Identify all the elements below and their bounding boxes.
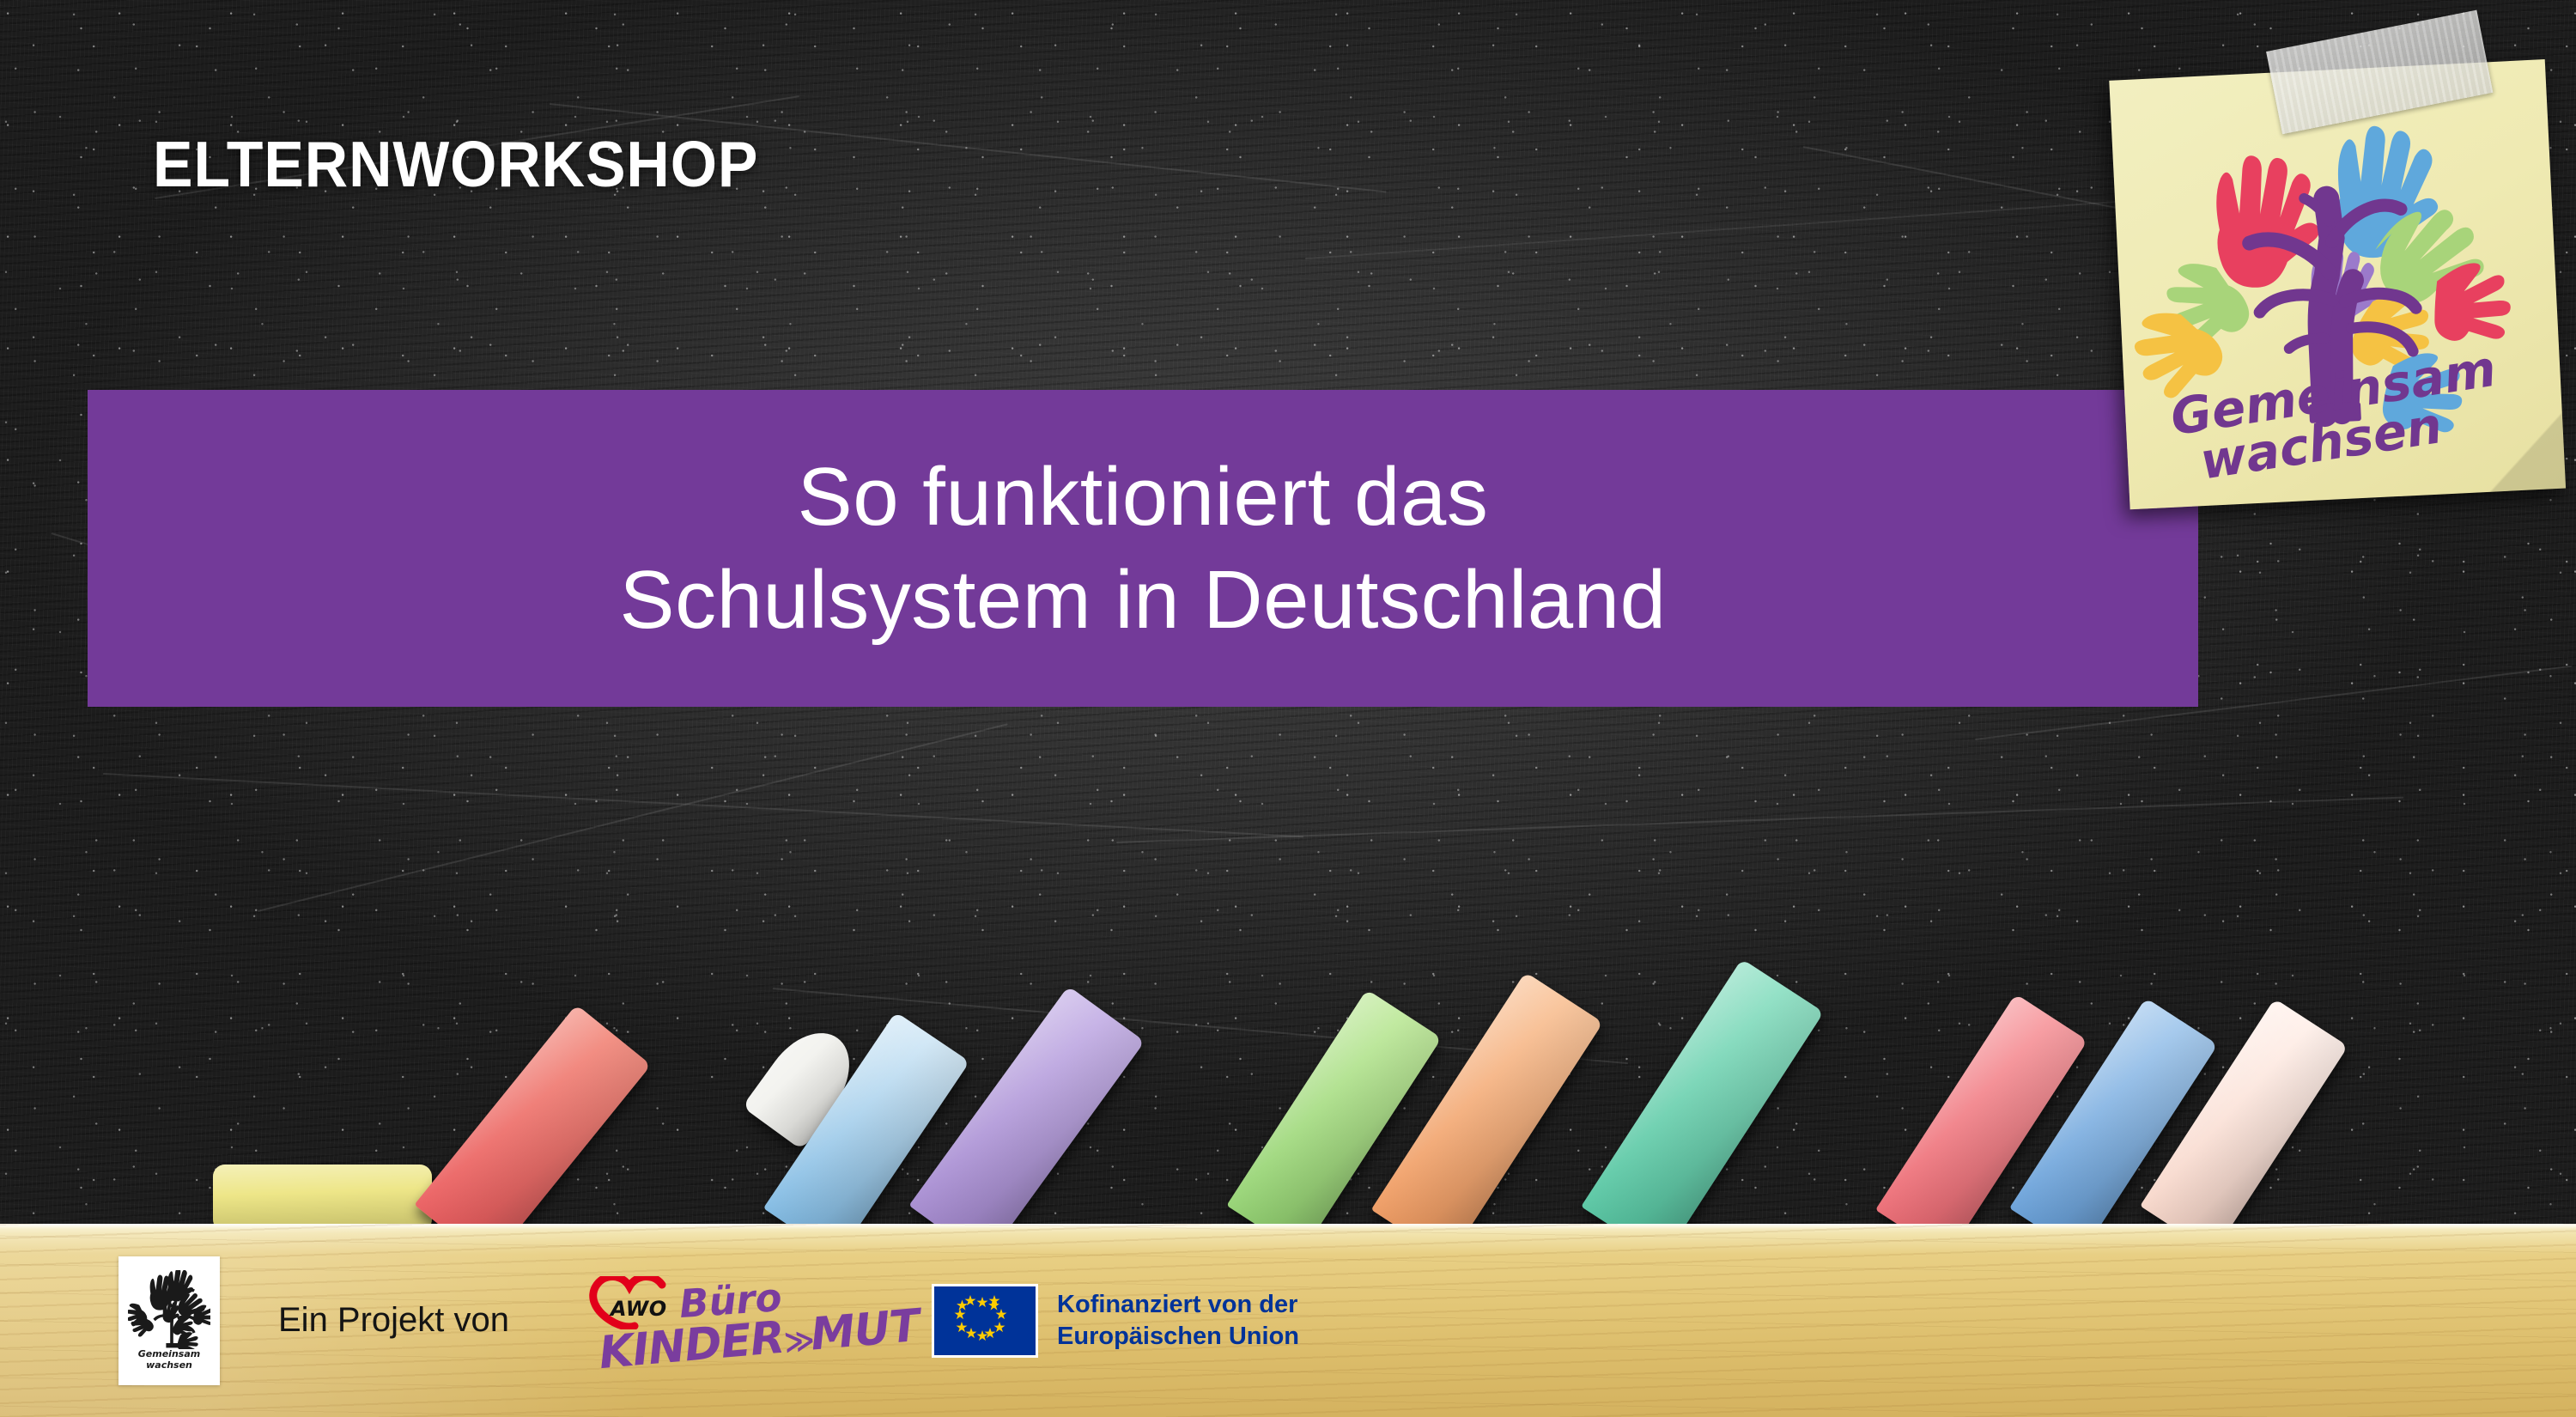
headline-line-2: Schulsystem in Deutschland bbox=[620, 556, 1667, 645]
page-title: ELTERNWORKSHOP bbox=[153, 127, 758, 201]
chalk-sticks-group bbox=[0, 927, 2576, 1237]
chalk-purple bbox=[909, 986, 1145, 1261]
slide-canvas: ELTERNWORKSHOP So funktioniert das Schul… bbox=[0, 0, 2576, 1417]
eu-stars bbox=[934, 1286, 1030, 1350]
handprint-red-top-left bbox=[2214, 153, 2323, 289]
eu-funding-line-1: Kofinanziert von der bbox=[1057, 1289, 1299, 1320]
eu-funding-text: Kofinanziert von der Europäischen Union bbox=[1057, 1289, 1299, 1352]
logo-card-caption-line-2: wachsen bbox=[146, 1360, 192, 1371]
eu-funding-line-2: Europäischen Union bbox=[1057, 1321, 1299, 1352]
logo-card-caption-line-1: Gemeinsam bbox=[138, 1349, 200, 1360]
eu-flag-icon bbox=[932, 1284, 1038, 1358]
awo-buero-kindermut-logo: AWO Büro KINDER≫MUT bbox=[586, 1271, 870, 1370]
headline-line-1: So funktioniert das bbox=[798, 453, 1489, 542]
sticky-note-paper: Gemeinsam wachsen bbox=[2109, 59, 2566, 509]
sticky-note-corner-fold bbox=[2487, 412, 2566, 493]
eu-funding-logo: Kofinanziert von der Europäischen Union bbox=[932, 1284, 1299, 1358]
tree-handprints-icon bbox=[128, 1270, 210, 1349]
chalk-yellow-flat bbox=[213, 1165, 432, 1232]
chalk-teal bbox=[1581, 958, 1824, 1260]
mut-word: MUT bbox=[809, 1300, 921, 1361]
kindermut-separator: ≫ bbox=[783, 1323, 813, 1360]
headline-banner: So funktioniert das Schulsystem in Deuts… bbox=[88, 390, 2198, 707]
awo-wordmark: AWO bbox=[611, 1297, 667, 1321]
project-label: Ein Projekt von bbox=[278, 1301, 509, 1340]
gemeinsam-wachsen-logo-card: Gemeinsam wachsen bbox=[118, 1256, 220, 1385]
sticky-note: Gemeinsam wachsen bbox=[2101, 16, 2576, 547]
footer-logo-bar: Gemeinsam wachsen Ein Projekt von AWO Bü… bbox=[0, 1224, 2576, 1417]
